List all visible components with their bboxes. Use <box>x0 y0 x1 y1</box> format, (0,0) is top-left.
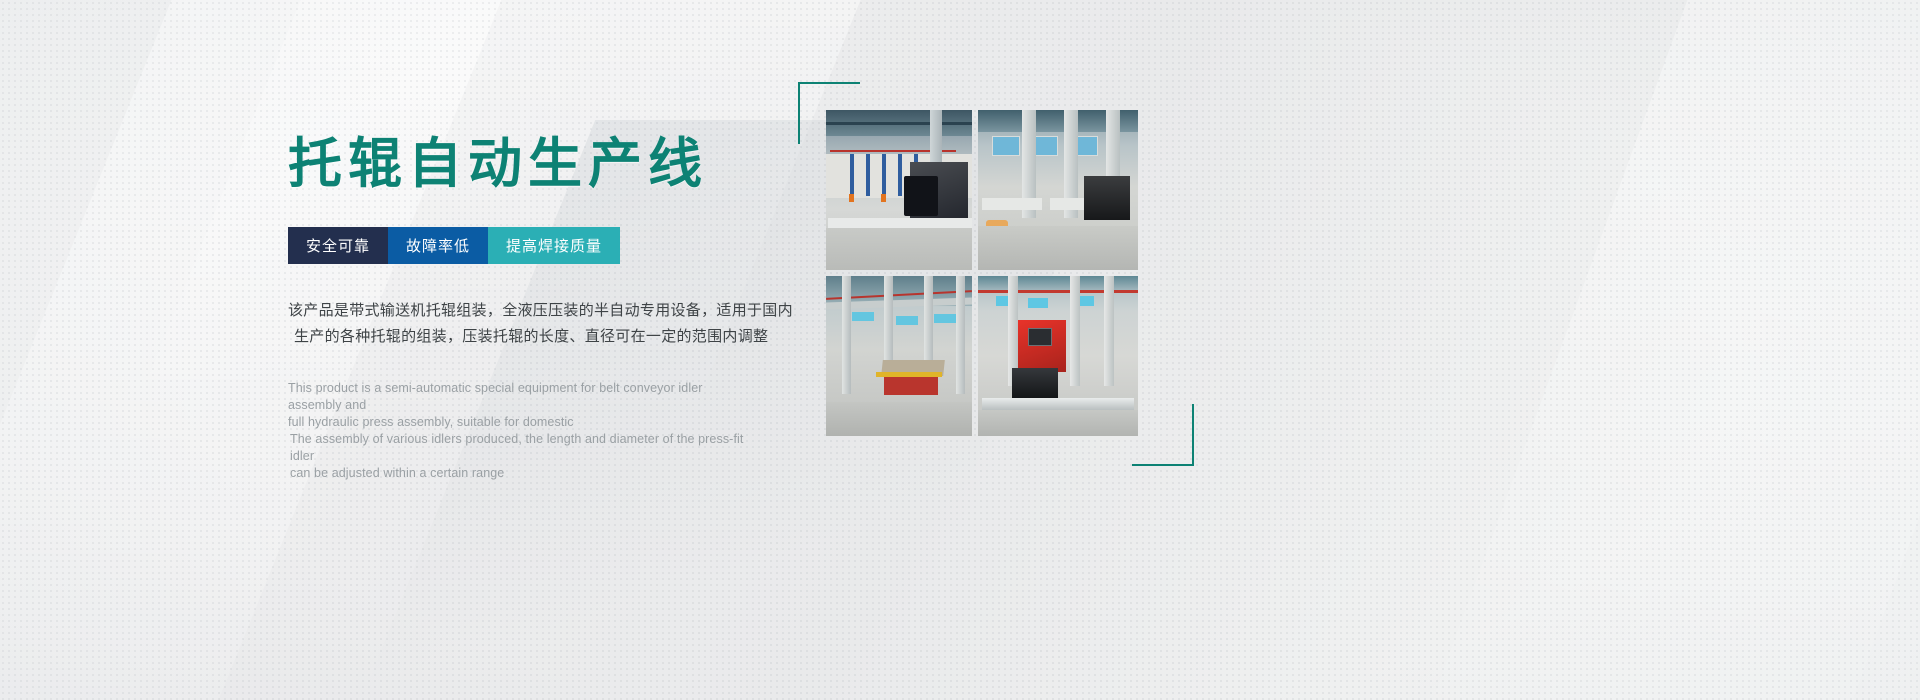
description-chinese: 该产品是带式输送机托辊组装，全液压压装的半自动专用设备，适用于国内 生产的各种托… <box>288 298 758 350</box>
description-english: This product is a semi-automatic special… <box>288 380 758 482</box>
badge-low-failure-rate[interactable]: 故障率低 <box>388 227 488 264</box>
background-diagonal-shape-right <box>1411 0 1920 700</box>
description-english-line-3: The assembly of various idlers produced,… <box>288 431 758 465</box>
photo-red-press-machine[interactable] <box>978 276 1138 436</box>
hero-text-column: 托辊自动生产线 安全可靠 故障率低 提高焊接质量 该产品是带式输送机托辊组装，全… <box>288 136 758 482</box>
description-english-line-4: can be adjusted within a certain range <box>288 465 758 482</box>
photo-assembly-hall[interactable] <box>826 276 972 436</box>
page-title: 托辊自动生产线 <box>288 136 758 193</box>
photo-workshop-benches[interactable] <box>978 110 1138 270</box>
badge-improved-welding-quality[interactable]: 提高焊接质量 <box>488 227 620 264</box>
product-photo-gallery <box>826 110 1152 436</box>
feature-badge-group: 安全可靠 故障率低 提高焊接质量 <box>288 227 620 264</box>
photo-conveyor-line[interactable] <box>826 110 972 270</box>
description-english-line-2: full hydraulic press assembly, suitable … <box>288 414 758 431</box>
description-chinese-line-1: 该产品是带式输送机托辊组装，全液压压装的半自动专用设备，适用于国内 <box>288 298 758 324</box>
product-hero-banner: 托辊自动生产线 安全可靠 故障率低 提高焊接质量 该产品是带式输送机托辊组装，全… <box>0 0 1920 700</box>
description-chinese-line-2: 生产的各种托辊的组装，压装托辊的长度、直径可在一定的范围内调整 <box>288 324 758 350</box>
description-english-line-1: This product is a semi-automatic special… <box>288 380 758 414</box>
badge-safe-reliable[interactable]: 安全可靠 <box>288 227 388 264</box>
